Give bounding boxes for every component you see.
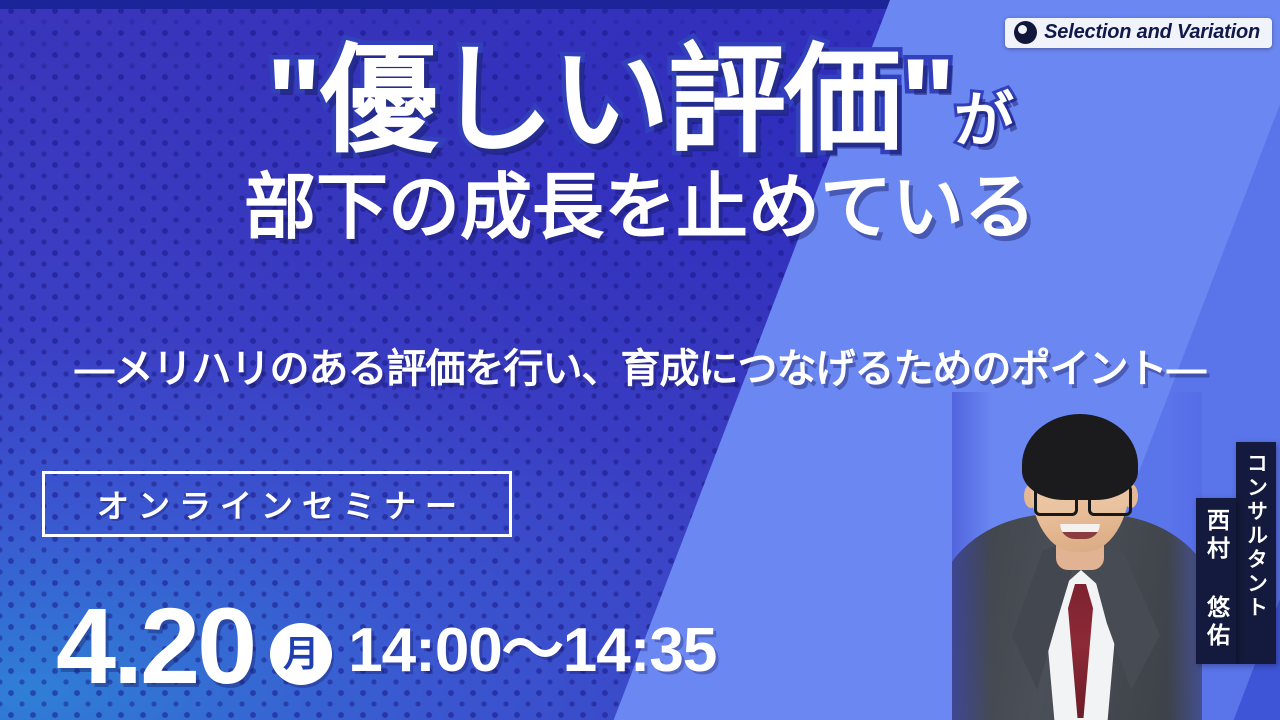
weekday-badge: 月 bbox=[270, 623, 332, 685]
speaker-name-label: 西村 悠佑 bbox=[1205, 508, 1228, 651]
headline-block: "優しい評価"が 部下の成長を止めている bbox=[0, 38, 1280, 249]
speaker-name-plate: 西村 悠佑 bbox=[1196, 498, 1236, 664]
speaker-photo bbox=[952, 392, 1202, 720]
event-time: 14:00〜14:35 bbox=[348, 599, 716, 689]
headline-particle: が bbox=[954, 87, 1014, 154]
speaker-role-label: コンサルタント bbox=[1246, 452, 1267, 620]
headline-line-1: "優しい評価"が bbox=[0, 38, 1280, 165]
online-seminar-label: オンラインセミナー bbox=[88, 481, 466, 527]
speaker-role-plate: コンサルタント bbox=[1236, 442, 1276, 664]
headline-line-2: 部下の成長を止めている bbox=[0, 169, 1280, 248]
headline-quoted-phrase: "優しい評価" bbox=[266, 35, 954, 167]
speaker-photo-edge-fade bbox=[952, 392, 1202, 720]
weekday-label: 月 bbox=[283, 636, 319, 672]
headline-subline: ―メリハリのある評価を行い、育成につなげるためのポイント― bbox=[0, 336, 1280, 394]
webinar-banner: Selection and Variation "優しい評価"が 部下の成長を止… bbox=[0, 0, 1280, 720]
schedule-block: 4.20 月 14:00〜14:35 bbox=[56, 596, 716, 695]
online-seminar-badge: オンラインセミナー bbox=[42, 471, 512, 537]
event-date: 4.20 bbox=[56, 596, 254, 695]
